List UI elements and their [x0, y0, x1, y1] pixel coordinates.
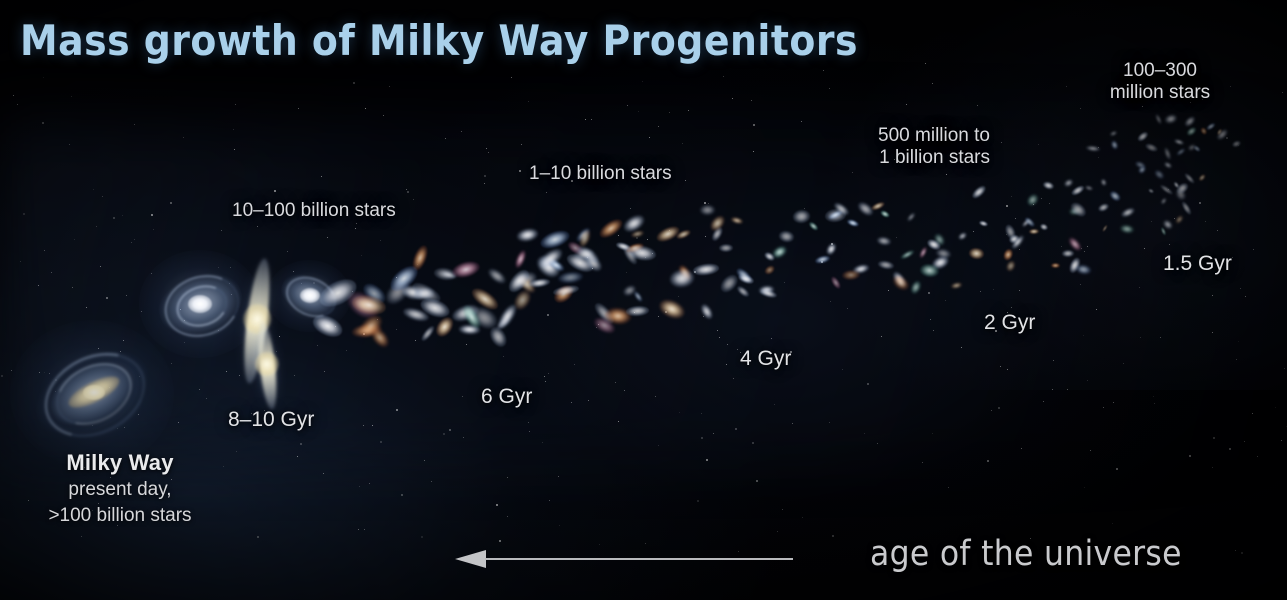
age-label-1-5-gyr: 1.5 Gyr — [1163, 252, 1232, 277]
milky-way-callout: Milky Way present day, >100 billion star… — [12, 450, 228, 527]
infographic-canvas: Mass growth of Milky Way Progenitors Mil… — [0, 0, 1287, 600]
page-title: Mass growth of Milky Way Progenitors — [20, 20, 858, 62]
mass-label-100-300-million-line2: million stars — [1055, 82, 1265, 104]
mass-label-100-300-million: 100–300 million stars — [1055, 60, 1265, 105]
age-label-6-gyr: 6 Gyr — [481, 385, 532, 410]
mass-label-100-300-million-line1: 100–300 — [1055, 60, 1265, 82]
arrow-left-icon — [455, 550, 486, 568]
age-label-2-gyr: 2 Gyr — [984, 311, 1035, 336]
arrow-line — [485, 558, 793, 560]
mass-label-10-100-billion: 10–100 billion stars — [232, 200, 396, 222]
age-axis-arrow — [455, 546, 795, 574]
mass-label-500m-1b: 500 million to 1 billion stars — [740, 125, 990, 170]
mass-label-1-10-billion: 1–10 billion stars — [529, 163, 672, 185]
mass-label-500m-1b-line2: 1 billion stars — [740, 147, 990, 169]
milky-way-name: Milky Way — [12, 450, 228, 476]
age-label-4-gyr: 4 Gyr — [740, 347, 791, 372]
milky-way-subtitle-line1: present day, — [12, 478, 228, 501]
age-axis-label: age of the universe — [870, 534, 1182, 574]
mass-label-500m-1b-line1: 500 million to — [740, 125, 990, 147]
milky-way-subtitle-line2: >100 billion stars — [12, 504, 228, 527]
age-label-8-10-gyr: 8–10 Gyr — [228, 408, 314, 433]
